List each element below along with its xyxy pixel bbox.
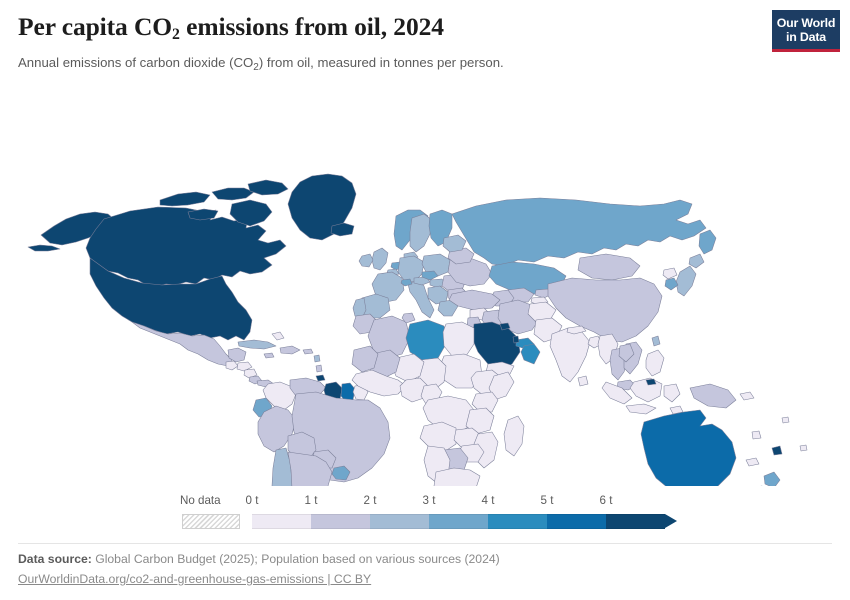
legend-no-data-swatch[interactable]: [182, 514, 240, 529]
country-ellesmere[interactable]: [248, 180, 288, 195]
country-aleutians[interactable]: [28, 245, 60, 251]
map-svg: [0, 88, 850, 486]
country-mongolia[interactable]: [578, 254, 640, 280]
legend-bin-6-plus[interactable]: [606, 514, 665, 529]
page-subtitle: Annual emissions of carbon dioxide (CO2)…: [18, 54, 718, 73]
country-qatar[interactable]: [513, 336, 519, 343]
country-lesser-antilles-1[interactable]: [314, 355, 320, 362]
footer-divider: [18, 543, 832, 544]
country-cuba[interactable]: [238, 340, 276, 349]
country-russia[interactable]: [452, 198, 706, 266]
chart-header: Per capita CO2 emissions from oil, 2024 …: [18, 12, 718, 73]
country-libya[interactable]: [406, 320, 446, 360]
country-australia[interactable]: [641, 410, 736, 486]
legend-bin-2-3[interactable]: [370, 514, 429, 529]
legend-color-bins: [252, 514, 677, 529]
country-lesser-antilles-2[interactable]: [316, 365, 322, 372]
page-subtitle-text-post: ) from oil, measured in tonnes per perso…: [259, 55, 504, 70]
country-nepal[interactable]: [567, 326, 586, 334]
country-mauritania[interactable]: [352, 346, 378, 372]
country-new-caledonia[interactable]: [746, 458, 759, 466]
page-subtitle-text-pre: Annual emissions of carbon dioxide (CO: [18, 55, 253, 70]
footer-source-line: Data source: Global Carbon Budget (2025)…: [18, 550, 818, 569]
country-new-zealand-north[interactable]: [764, 472, 780, 486]
legend-bin-4-5[interactable]: [488, 514, 547, 529]
legend-tick-4: 4 t: [482, 494, 495, 507]
legend-bin-3-4[interactable]: [429, 514, 488, 529]
legend-tick-6: 6 t: [600, 494, 613, 507]
country-philippines[interactable]: [646, 350, 664, 376]
country-taiwan[interactable]: [652, 336, 660, 346]
country-canada-arctic-1[interactable]: [160, 192, 210, 206]
country-papua-new-guinea[interactable]: [690, 384, 736, 408]
map-countries: [28, 174, 807, 486]
owid-logo[interactable]: Our World in Data: [772, 10, 840, 52]
country-oman[interactable]: [521, 344, 540, 364]
page-subtitle-subscript: 2: [253, 62, 259, 73]
country-sri-lanka[interactable]: [578, 376, 588, 386]
country-trinidad-and-tobago[interactable]: [316, 375, 325, 381]
page-title-subscript: 2: [172, 26, 180, 43]
page-title-text-post: emissions from oil, 2024: [180, 12, 444, 41]
country-ireland[interactable]: [359, 254, 373, 267]
country-sweden[interactable]: [410, 214, 432, 252]
country-indonesia-sulawesi[interactable]: [664, 384, 680, 402]
country-fiji[interactable]: [772, 446, 782, 455]
legend-no-data-label: No data: [180, 494, 221, 507]
country-brunei[interactable]: [646, 379, 656, 385]
legend-open-ended-arrow-icon: [665, 514, 677, 528]
country-japan[interactable]: [676, 266, 696, 296]
legend-bin-5-6[interactable]: [547, 514, 606, 529]
country-solomon-islands[interactable]: [740, 392, 754, 400]
owid-logo-rule: [772, 49, 840, 52]
legend-tick-1: 1 t: [305, 494, 318, 507]
chart-footer: Data source: Global Carbon Budget (2025)…: [18, 550, 818, 589]
country-egypt[interactable]: [443, 322, 474, 356]
country-japan-hokkaido[interactable]: [689, 254, 704, 268]
country-united-kingdom[interactable]: [372, 248, 388, 270]
legend-bin-0-1[interactable]: [252, 514, 311, 529]
country-north-korea[interactable]: [663, 268, 677, 279]
footer-link[interactable]: OurWorldinData.org/co2-and-greenhouse-ga…: [18, 570, 818, 589]
page-title-text-pre: Per capita CO: [18, 12, 172, 41]
country-vanuatu[interactable]: [752, 431, 761, 439]
country-indonesia-borneo[interactable]: [630, 378, 662, 402]
country-south-korea[interactable]: [665, 278, 678, 290]
footer-source-text: Global Carbon Budget (2025); Population …: [95, 552, 499, 566]
legend-tick-5: 5 t: [541, 494, 554, 507]
world-choropleth-map[interactable]: [0, 88, 850, 486]
country-canada-arctic-2[interactable]: [212, 188, 254, 200]
country-indonesia-java[interactable]: [626, 404, 656, 414]
country-puerto-rico[interactable]: [303, 349, 313, 354]
country-bahamas[interactable]: [272, 332, 284, 340]
country-madagascar[interactable]: [504, 416, 524, 456]
country-kamchatka[interactable]: [699, 230, 716, 254]
country-south-africa[interactable]: [434, 468, 480, 486]
legend-bin-1-2[interactable]: [311, 514, 370, 529]
owid-logo-line-1: Our World: [772, 16, 840, 30]
country-pacific-small-2[interactable]: [800, 445, 807, 451]
country-guatemala[interactable]: [226, 361, 238, 370]
footer-source-label: Data source:: [18, 552, 92, 566]
legend-tick-0: 0 t: [246, 494, 259, 507]
country-hispaniola[interactable]: [280, 346, 300, 354]
legend-tick-2: 2 t: [364, 494, 377, 507]
owid-logo-line-2: in Data: [772, 30, 840, 44]
country-jamaica[interactable]: [264, 353, 274, 358]
page-title: Per capita CO2 emissions from oil, 2024: [18, 12, 718, 46]
legend-tick-3: 3 t: [423, 494, 436, 507]
country-india[interactable]: [550, 328, 590, 382]
country-pacific-small-1[interactable]: [782, 417, 789, 423]
